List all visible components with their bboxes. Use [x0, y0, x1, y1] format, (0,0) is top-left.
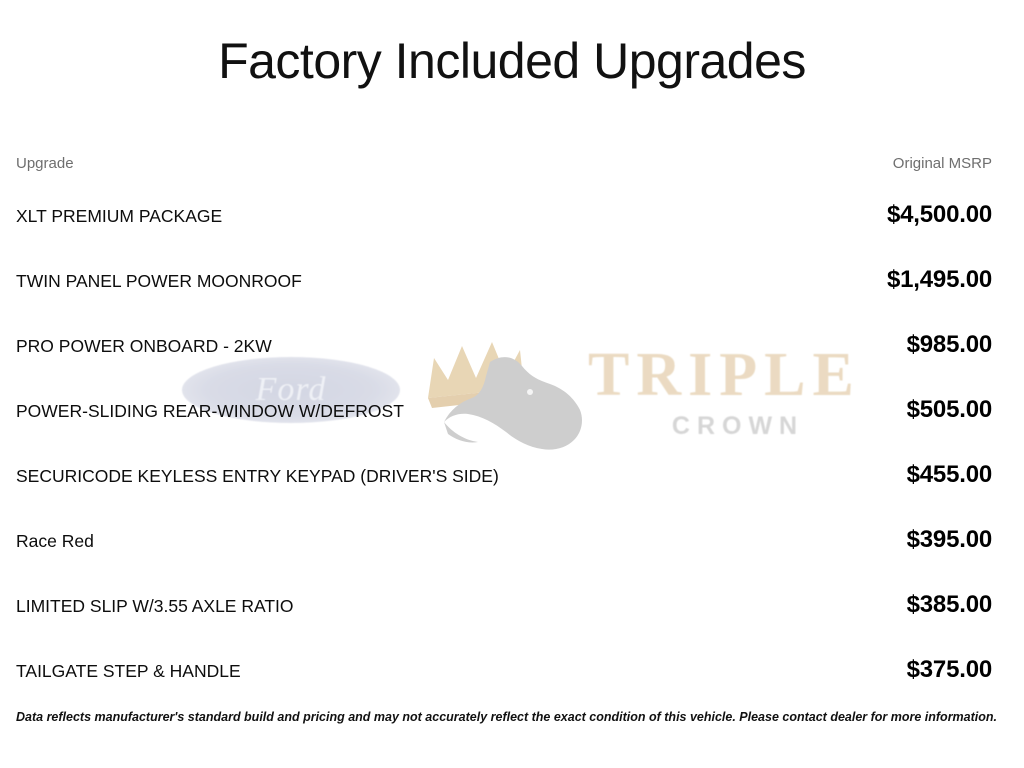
upgrade-msrp: $385.00 [907, 573, 992, 619]
upgrade-name: TWIN PANEL POWER MOONROOF [16, 249, 302, 292]
table-row: XLT PREMIUM PACKAGE $4,500.00 [16, 183, 992, 248]
column-header-upgrade: Upgrade [16, 155, 74, 172]
upgrade-msrp: $1,495.00 [887, 248, 992, 294]
upgrades-table: Upgrade Original MSRP XLT PREMIUM PACKAG… [16, 155, 992, 703]
table-row: PRO POWER ONBOARD - 2KW $985.00 [16, 313, 992, 378]
upgrade-name: XLT PREMIUM PACKAGE [16, 184, 222, 227]
upgrade-msrp: $375.00 [907, 638, 992, 684]
column-header-msrp: Original MSRP [893, 155, 992, 172]
table-header-row: Upgrade Original MSRP [16, 155, 992, 183]
upgrades-page: Ford TRIPLE CROWN Factory Included Upgra… [0, 0, 1024, 768]
table-row: Race Red $395.00 [16, 508, 992, 573]
table-row: POWER-SLIDING REAR-WINDOW W/DEFROST $505… [16, 378, 992, 443]
upgrade-name: TAILGATE STEP & HANDLE [16, 639, 241, 682]
upgrade-msrp: $4,500.00 [887, 183, 992, 229]
disclaimer-text: Data reflects manufacturer's standard bu… [16, 710, 1006, 724]
upgrade-name: POWER-SLIDING REAR-WINDOW W/DEFROST [16, 379, 404, 422]
upgrade-msrp: $985.00 [907, 313, 992, 359]
upgrade-msrp: $505.00 [907, 378, 992, 424]
table-row: TWIN PANEL POWER MOONROOF $1,495.00 [16, 248, 992, 313]
upgrade-name: LIMITED SLIP W/3.55 AXLE RATIO [16, 574, 294, 617]
table-row: SECURICODE KEYLESS ENTRY KEYPAD (DRIVER'… [16, 443, 992, 508]
upgrade-name: PRO POWER ONBOARD - 2KW [16, 314, 272, 357]
upgrade-name: SECURICODE KEYLESS ENTRY KEYPAD (DRIVER'… [16, 444, 499, 487]
upgrade-msrp: $395.00 [907, 508, 992, 554]
table-row: LIMITED SLIP W/3.55 AXLE RATIO $385.00 [16, 573, 992, 638]
upgrade-name: Race Red [16, 509, 94, 552]
page-title: Factory Included Upgrades [0, 33, 1024, 91]
table-row: TAILGATE STEP & HANDLE $375.00 [16, 638, 992, 703]
upgrade-msrp: $455.00 [907, 443, 992, 489]
